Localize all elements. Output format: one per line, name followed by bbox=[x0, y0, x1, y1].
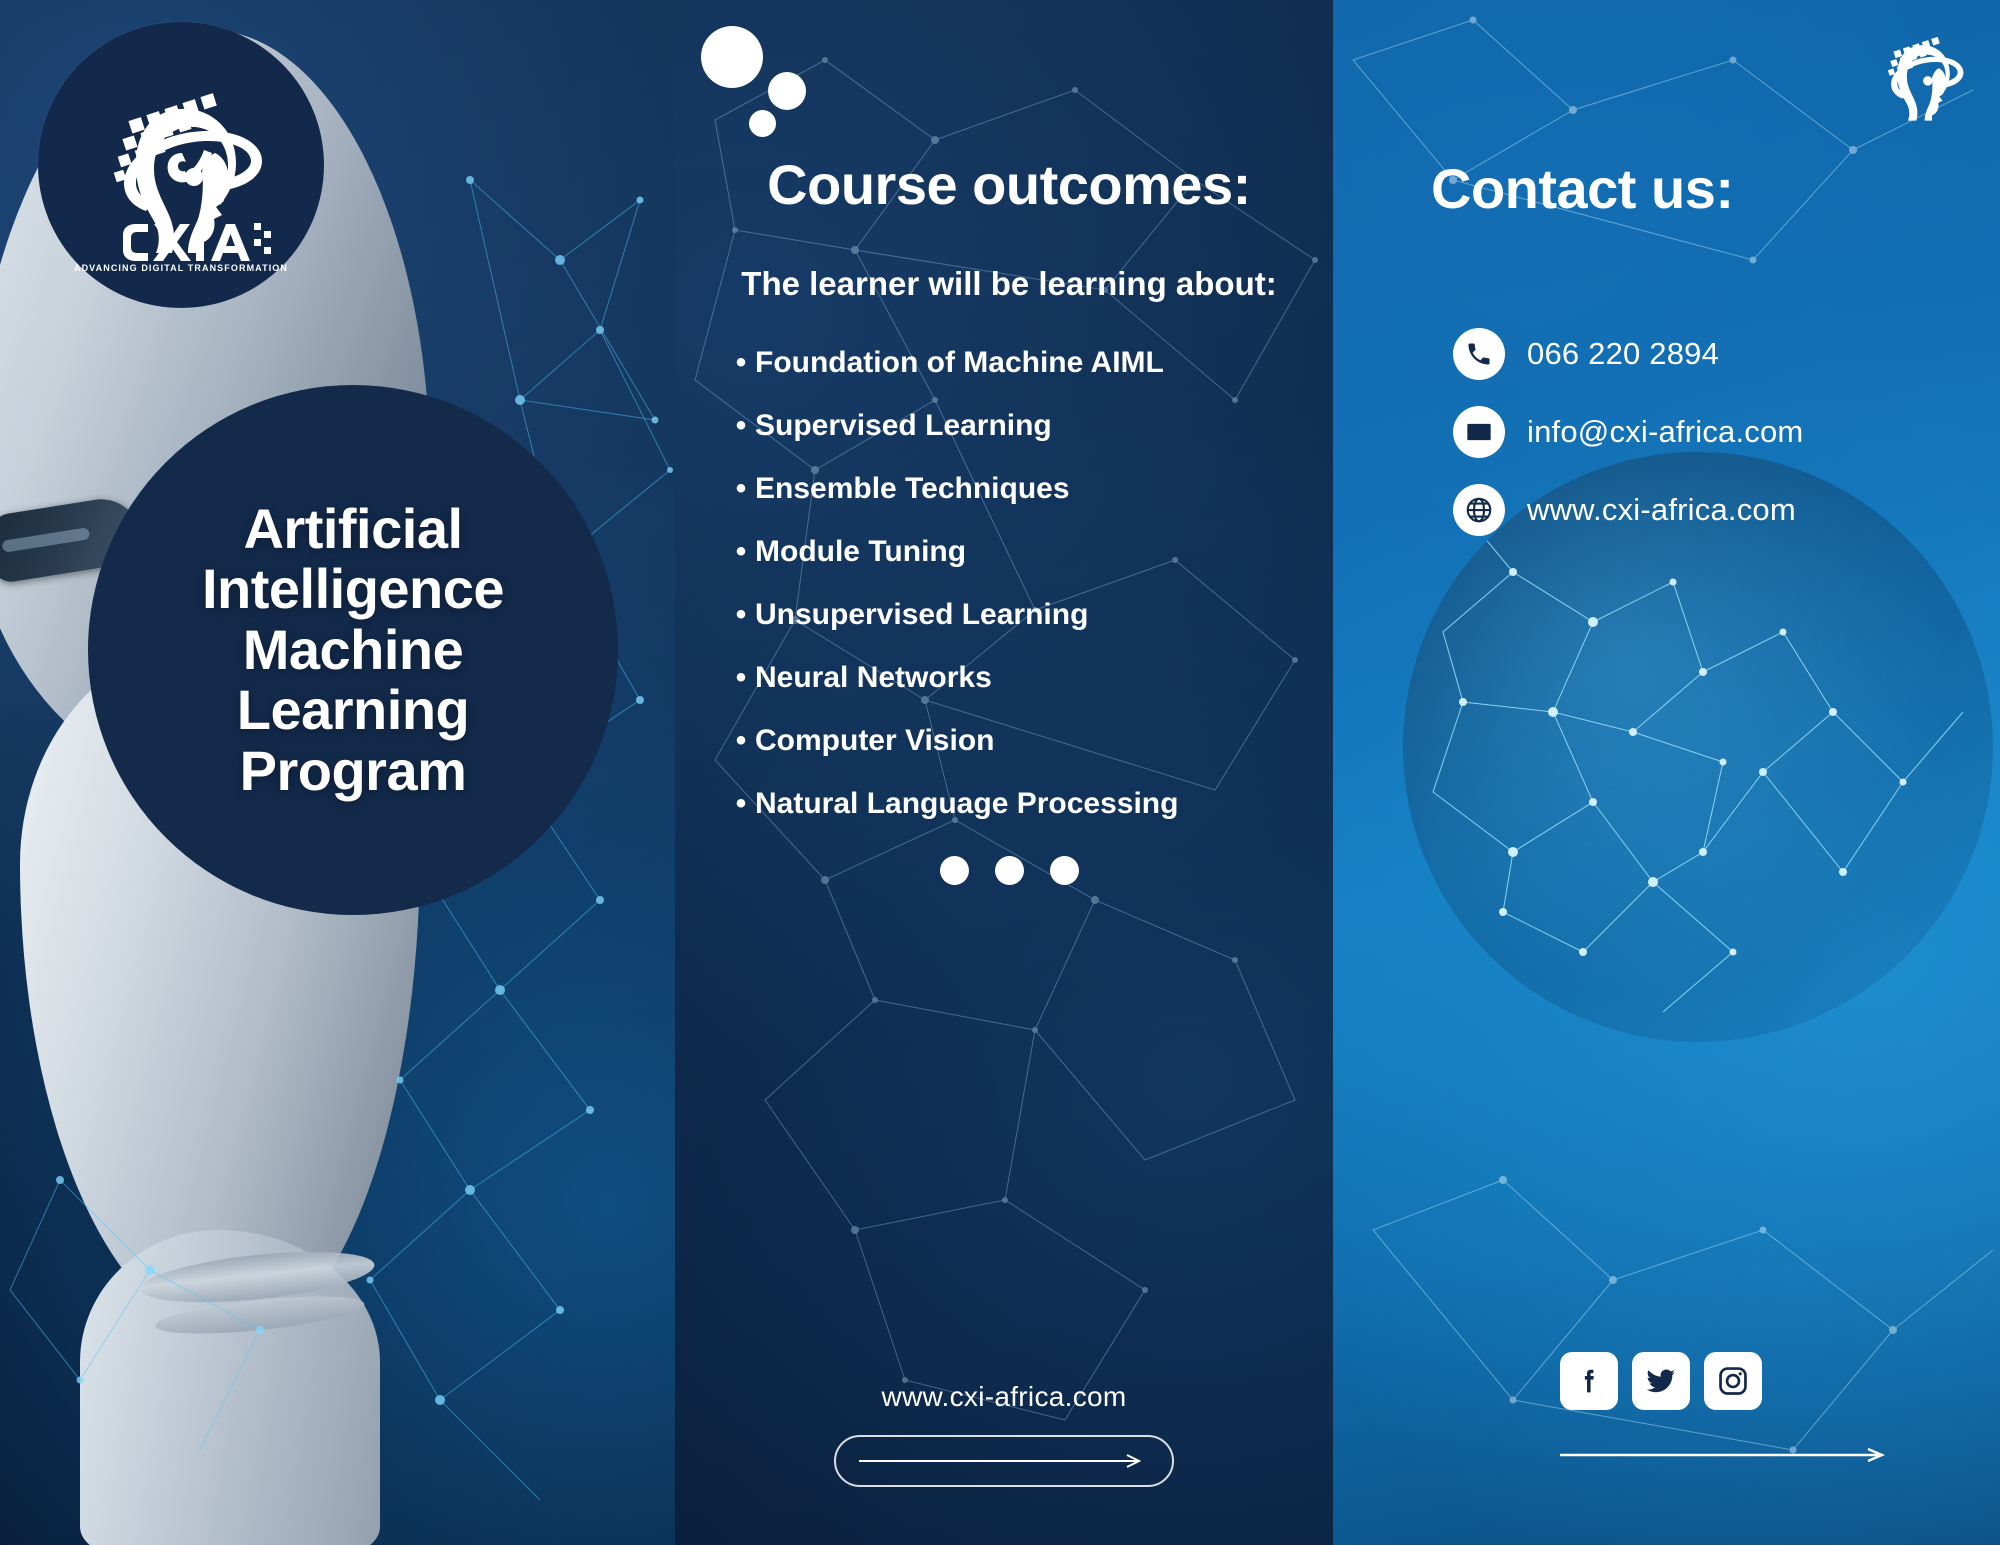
list-item: • Module Tuning bbox=[727, 534, 1299, 570]
footer-website-link[interactable]: www.cxi-africa.com bbox=[675, 1381, 1333, 1413]
decor-dot bbox=[940, 856, 969, 885]
title-line-3: Program bbox=[130, 741, 576, 801]
bullet-icon: • bbox=[727, 597, 755, 633]
footer-arrow-pill bbox=[834, 1435, 1174, 1487]
list-item: • Foundation of Machine AIML bbox=[727, 345, 1299, 381]
bullet-icon: • bbox=[727, 345, 755, 381]
contact-row-phone[interactable]: 066 220 2894 bbox=[1453, 328, 1803, 380]
contact-list: 066 220 2894 info@cxi-africa.com bbox=[1453, 328, 1803, 562]
outcomes-heading: Course outcomes: bbox=[719, 152, 1299, 217]
cxia-head-logo-icon bbox=[1866, 18, 1976, 128]
list-item-label: Foundation of Machine AIML bbox=[755, 345, 1164, 381]
decor-dot bbox=[995, 856, 1024, 885]
contact-row-email[interactable]: info@cxi-africa.com bbox=[1453, 406, 1803, 458]
bullet-icon: • bbox=[727, 534, 755, 570]
list-item: • Neural Networks bbox=[727, 660, 1299, 696]
contact-website-value: www.cxi-africa.com bbox=[1527, 492, 1796, 528]
globe-icon bbox=[1453, 484, 1505, 536]
title-line-2: Machine Learning bbox=[130, 620, 576, 741]
contact-row-website[interactable]: www.cxi-africa.com bbox=[1453, 484, 1803, 536]
list-item: • Unsupervised Learning bbox=[727, 597, 1299, 633]
list-item-label: Natural Language Processing bbox=[755, 786, 1178, 822]
decor-dot bbox=[1050, 856, 1079, 885]
list-item-label: Ensemble Techniques bbox=[755, 471, 1070, 507]
contact-phone-value: 066 220 2894 bbox=[1527, 336, 1719, 372]
list-item-label: Computer Vision bbox=[755, 723, 994, 759]
cxia-head-logo-icon bbox=[76, 57, 286, 267]
bullet-icon: • bbox=[727, 471, 755, 507]
panel-course-outcomes: Course outcomes: The learner will be lea… bbox=[675, 0, 1333, 1545]
arrow-right-icon bbox=[859, 1452, 1149, 1470]
list-item: • Supervised Learning bbox=[727, 408, 1299, 444]
phone-icon bbox=[1453, 328, 1505, 380]
brochure-page: ADVANCING DIGITAL TRANSFORMATION Artific… bbox=[0, 0, 2000, 1545]
bullet-icon: • bbox=[727, 723, 755, 759]
bullet-icon: • bbox=[727, 786, 755, 822]
logo-tagline: ADVANCING DIGITAL TRANSFORMATION bbox=[74, 263, 288, 273]
page-title: Artificial Intelligence Machine Learning… bbox=[130, 499, 576, 801]
panel-contact: Contact us: 066 220 2894 info@cxi-afri bbox=[1333, 0, 2000, 1545]
outcomes-list: • Foundation of Machine AIML • Supervise… bbox=[719, 345, 1299, 822]
social-links bbox=[1560, 1352, 1762, 1410]
decor-dots-row bbox=[719, 856, 1299, 885]
list-item-label: Unsupervised Learning bbox=[755, 597, 1088, 633]
panel-cover: ADVANCING DIGITAL TRANSFORMATION Artific… bbox=[0, 0, 675, 1545]
list-item-label: Module Tuning bbox=[755, 534, 966, 570]
twitter-icon[interactable] bbox=[1632, 1352, 1690, 1410]
instagram-icon[interactable] bbox=[1704, 1352, 1762, 1410]
logo-badge: ADVANCING DIGITAL TRANSFORMATION bbox=[38, 22, 324, 308]
outcomes-footer: www.cxi-africa.com bbox=[675, 1381, 1333, 1487]
cover-title-badge: Artificial Intelligence Machine Learning… bbox=[88, 385, 618, 915]
logo-small bbox=[1866, 18, 1976, 128]
bullet-icon: • bbox=[727, 408, 755, 444]
facebook-icon[interactable] bbox=[1560, 1352, 1618, 1410]
contact-email-value: info@cxi-africa.com bbox=[1527, 414, 1803, 450]
arrow-right-icon-right-panel bbox=[1560, 1448, 1890, 1462]
list-item-label: Neural Networks bbox=[755, 660, 992, 696]
contact-heading: Contact us: bbox=[1431, 156, 1734, 221]
outcomes-subheading: The learner will be learning about: bbox=[719, 265, 1299, 303]
bullet-icon: • bbox=[727, 660, 755, 696]
list-item: • Ensemble Techniques bbox=[727, 471, 1299, 507]
title-line-1: Artificial Intelligence bbox=[130, 499, 576, 620]
list-item-label: Supervised Learning bbox=[755, 408, 1052, 444]
network-lines-decor-right bbox=[1333, 0, 2000, 1545]
list-item: • Natural Language Processing bbox=[727, 786, 1299, 822]
list-item: • Computer Vision bbox=[727, 723, 1299, 759]
email-icon bbox=[1453, 406, 1505, 458]
